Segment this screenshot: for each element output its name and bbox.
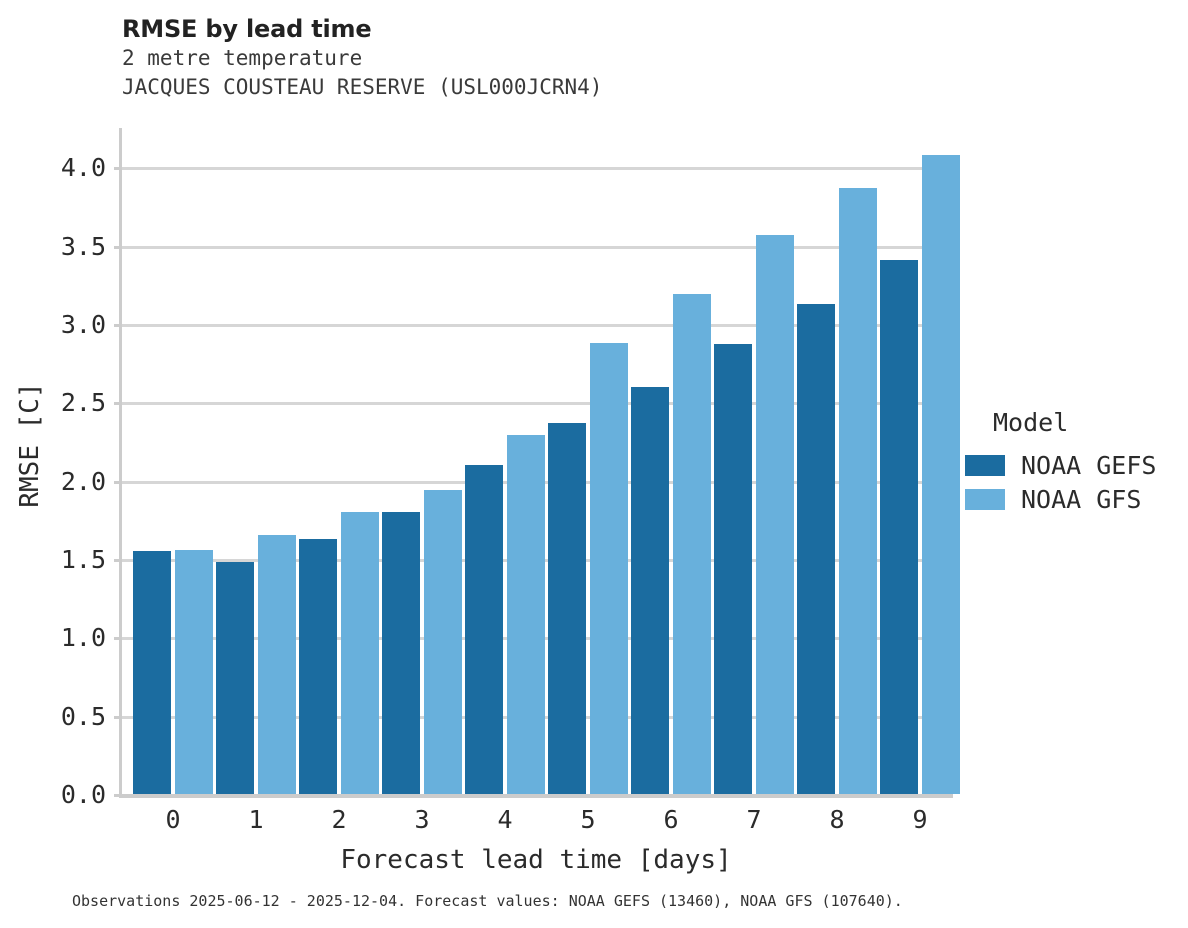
y-axis-tick-label: 2.0 [38,469,106,494]
y-axis-tick-label: 1.5 [38,547,106,572]
bar-noaa-gfs-day-0 [175,550,213,794]
y-axis-tick-mark [114,794,122,797]
y-axis-tick-mark [114,481,122,484]
legend-items: NOAA GEFSNOAA GFS [965,448,1185,516]
y-axis-title: RMSE [C] [15,365,45,525]
x-axis-tick-label: 7 [724,806,784,834]
y-axis-tick-mark [114,402,122,405]
bar-noaa-gfs-day-1 [258,535,296,794]
legend-item-noaa-gefs[interactable]: NOAA GEFS [965,448,1185,482]
legend: Model NOAA GEFSNOAA GFS [965,408,1185,516]
y-axis-tick-mark [114,716,122,719]
y-axis-tick-label: 3.5 [38,234,106,259]
chart-subtitle: 2 metre temperature [122,44,1022,73]
bar-noaa-gefs-day-8 [797,304,835,794]
page-title: RMSE by lead time [122,14,1022,44]
x-axis-tick-label: 9 [890,806,950,834]
x-axis-tick-label: 5 [558,806,618,834]
bar-noaa-gfs-day-6 [673,294,711,794]
bar-noaa-gefs-day-0 [133,551,171,794]
y-axis-tick-label: 2.5 [38,390,106,415]
bar-noaa-gfs-day-7 [756,235,794,794]
x-axis-tick-label: 1 [226,806,286,834]
bar-noaa-gefs-day-7 [714,344,752,794]
bar-noaa-gefs-day-4 [465,465,503,794]
bar-noaa-gfs-day-9 [922,155,960,794]
bar-noaa-gfs-day-4 [507,435,545,794]
x-axis-tick-label: 8 [807,806,867,834]
bar-noaa-gfs-day-8 [839,188,877,794]
bar-noaa-gfs-day-2 [341,512,379,794]
y-axis-tick-mark [114,637,122,640]
x-axis-tick-label: 6 [641,806,701,834]
y-axis-tick-label: 0.0 [38,782,106,807]
y-axis-tick-mark [114,559,122,562]
y-axis-tick-label: 1.0 [38,625,106,650]
footer-note: Observations 2025-06-12 - 2025-12-04. Fo… [72,892,903,910]
legend-swatch-icon [965,455,1005,476]
bar-noaa-gefs-day-1 [216,562,254,794]
bar-noaa-gfs-day-5 [590,343,628,794]
title-block: RMSE by lead time 2 metre temperature JA… [122,14,1022,102]
y-axis-tick-label: 0.5 [38,704,106,729]
legend-item-noaa-gfs[interactable]: NOAA GFS [965,482,1185,516]
x-axis-tick-label: 2 [309,806,369,834]
bar-noaa-gefs-day-5 [548,423,586,794]
x-axis-title: Forecast lead time [days] [122,845,950,875]
plot-area [122,128,950,794]
legend-item-label: NOAA GEFS [1021,453,1156,478]
y-axis-tick-label: 4.0 [38,155,106,180]
gridline [122,167,950,170]
chart-station-label: JACQUES COUSTEAU RESERVE (USL000JCRN4) [122,73,1022,102]
legend-swatch-icon [965,489,1005,510]
x-axis-spine [119,794,953,798]
bar-noaa-gefs-day-2 [299,539,337,794]
bar-noaa-gefs-day-9 [880,260,918,794]
bar-noaa-gfs-day-3 [424,490,462,794]
y-axis-tick-label: 3.0 [38,312,106,337]
y-axis-tick-mark [114,324,122,327]
x-axis-tick-label: 3 [392,806,452,834]
bar-noaa-gefs-day-3 [382,512,420,794]
gridline [122,246,950,249]
y-axis-tick-mark [114,246,122,249]
x-axis-tick-label: 4 [475,806,535,834]
bar-noaa-gefs-day-6 [631,387,669,794]
y-axis-tick-mark [114,167,122,170]
legend-title: Model [993,408,1185,438]
x-axis-tick-label: 0 [143,806,203,834]
legend-item-label: NOAA GFS [1021,487,1141,512]
